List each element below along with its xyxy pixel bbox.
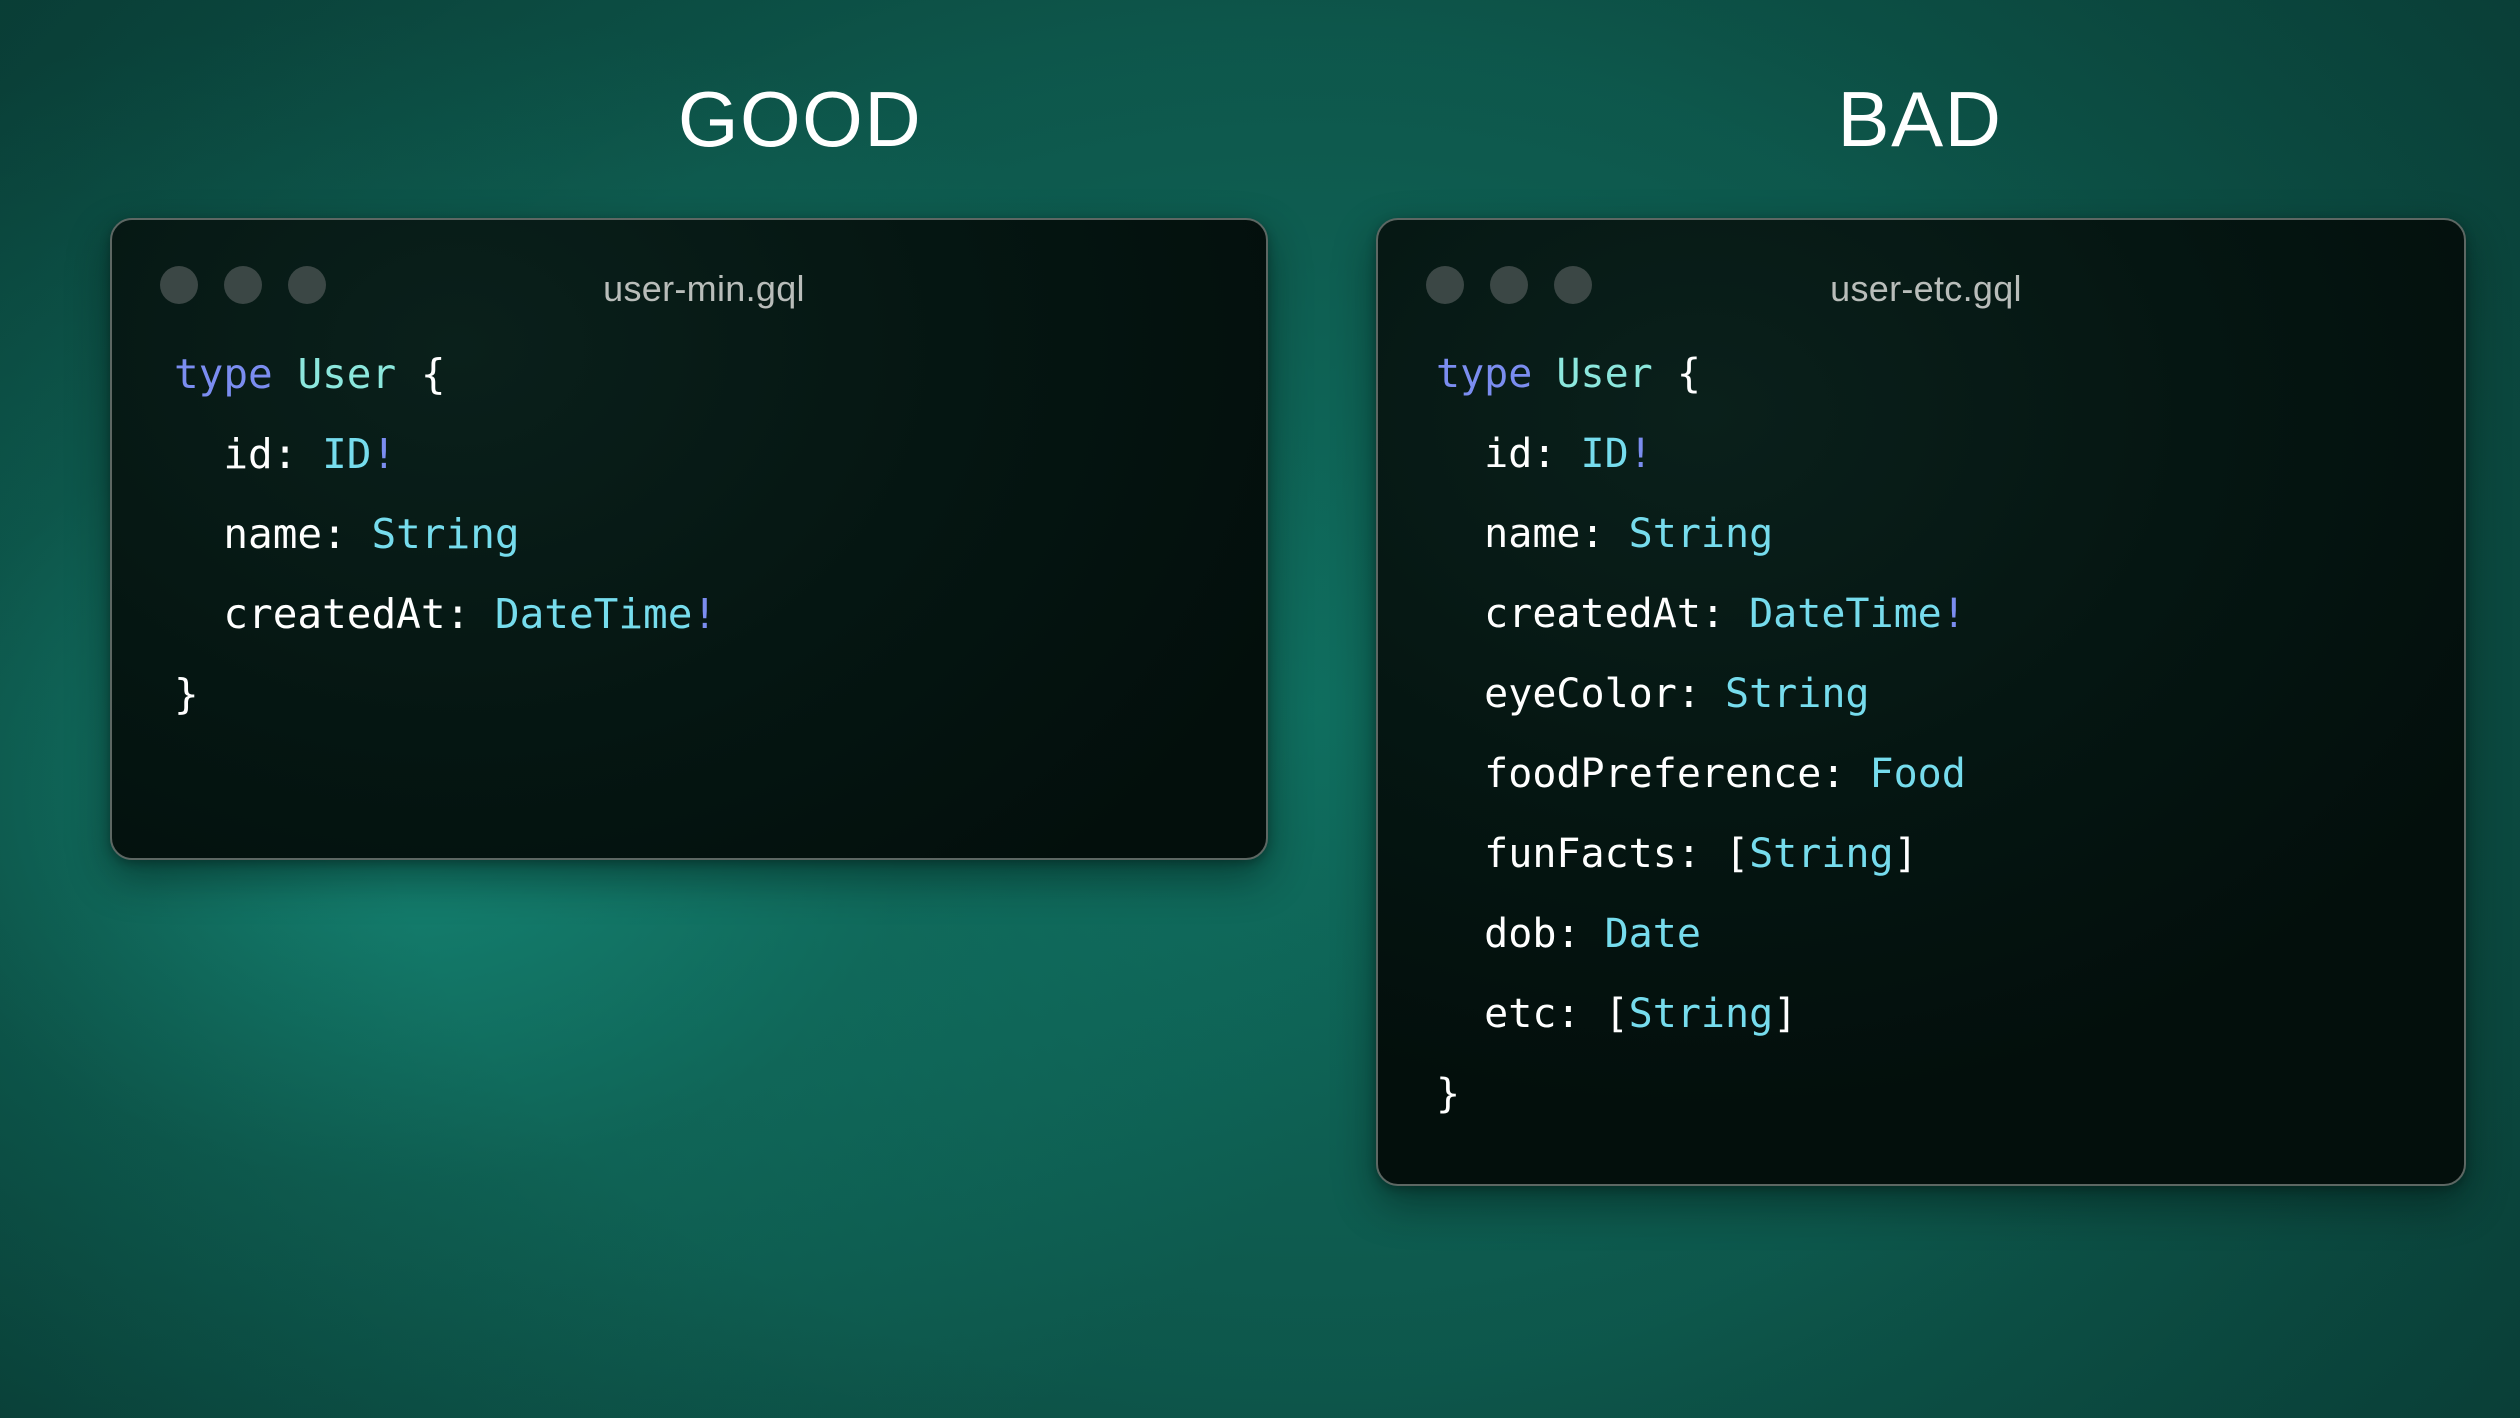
code-token: ] bbox=[1894, 831, 1918, 877]
code-window-bad: user-etc.gql type User { id: ID! name: S… bbox=[1376, 218, 2466, 1186]
code-token: DateTime bbox=[1749, 591, 1942, 637]
code-token: dob: bbox=[1436, 911, 1605, 957]
code-token: ! bbox=[371, 430, 396, 478]
code-token: createdAt: bbox=[174, 590, 495, 638]
code-token: ! bbox=[692, 590, 717, 638]
code-token: { bbox=[421, 350, 446, 398]
panel-heading-good: GOOD bbox=[240, 80, 1360, 158]
code-token: String bbox=[1725, 671, 1870, 717]
code-token: User bbox=[1556, 351, 1652, 397]
code-token: type bbox=[1436, 351, 1532, 397]
code-token: id: bbox=[174, 430, 322, 478]
code-token: ! bbox=[1629, 431, 1653, 477]
code-line: foodPreference: Food bbox=[1436, 734, 2464, 814]
code-token: [ bbox=[1605, 991, 1629, 1037]
code-line: id: ID! bbox=[1436, 414, 2464, 494]
code-token: eyeColor: bbox=[1436, 671, 1725, 717]
code-token: ] bbox=[1773, 991, 1797, 1037]
titlebar-bad: user-etc.gql bbox=[1378, 220, 2464, 316]
code-line: id: ID! bbox=[174, 414, 1266, 494]
code-token bbox=[1653, 351, 1677, 397]
code-token: ID bbox=[1581, 431, 1629, 477]
code-token: Food bbox=[1869, 751, 1965, 797]
code-token: String bbox=[1629, 991, 1774, 1037]
code-token: } bbox=[1436, 1071, 1460, 1117]
code-window-good: user-min.gql type User { id: ID! name: S… bbox=[110, 218, 1268, 860]
code-token: [ bbox=[1725, 831, 1749, 877]
code-token: name: bbox=[1436, 511, 1629, 557]
code-line: funFacts: [String] bbox=[1436, 814, 2464, 894]
code-token: ID bbox=[322, 430, 371, 478]
code-token: String bbox=[371, 510, 519, 558]
comparison-stage: GOOD BAD user-min.gql type User { id: ID… bbox=[0, 0, 2520, 1418]
code-line: } bbox=[174, 654, 1266, 734]
code-line: createdAt: DateTime! bbox=[1436, 574, 2464, 654]
code-token: ! bbox=[1942, 591, 1966, 637]
code-line: type User { bbox=[174, 334, 1266, 414]
code-token bbox=[396, 350, 421, 398]
code-line: name: String bbox=[174, 494, 1266, 574]
code-token: etc: bbox=[1436, 991, 1605, 1037]
code-token: User bbox=[297, 350, 396, 398]
code-token bbox=[273, 350, 298, 398]
filename-label-good: user-min.gql bbox=[112, 268, 1266, 310]
code-token: foodPreference: bbox=[1436, 751, 1869, 797]
code-token: Date bbox=[1605, 911, 1701, 957]
code-token: String bbox=[1629, 511, 1774, 557]
code-line: etc: [String] bbox=[1436, 974, 2464, 1054]
panel-heading-bad: BAD bbox=[1380, 80, 2460, 158]
code-token: id: bbox=[1436, 431, 1581, 477]
filename-label-bad: user-etc.gql bbox=[1378, 268, 2464, 310]
code-token: { bbox=[1677, 351, 1701, 397]
code-token: createdAt: bbox=[1436, 591, 1749, 637]
titlebar-good: user-min.gql bbox=[112, 220, 1266, 316]
code-token: name: bbox=[174, 510, 371, 558]
code-line: } bbox=[1436, 1054, 2464, 1134]
code-line: name: String bbox=[1436, 494, 2464, 574]
code-token: type bbox=[174, 350, 273, 398]
code-token: DateTime bbox=[495, 590, 692, 638]
code-token: } bbox=[174, 670, 199, 718]
code-content-bad: type User { id: ID! name: String created… bbox=[1378, 316, 2464, 1134]
code-content-good: type User { id: ID! name: String created… bbox=[112, 316, 1266, 734]
code-token bbox=[1532, 351, 1556, 397]
code-token: funFacts: bbox=[1436, 831, 1725, 877]
code-line: type User { bbox=[1436, 334, 2464, 414]
code-line: dob: Date bbox=[1436, 894, 2464, 974]
code-line: eyeColor: String bbox=[1436, 654, 2464, 734]
code-token: String bbox=[1749, 831, 1894, 877]
code-line: createdAt: DateTime! bbox=[174, 574, 1266, 654]
